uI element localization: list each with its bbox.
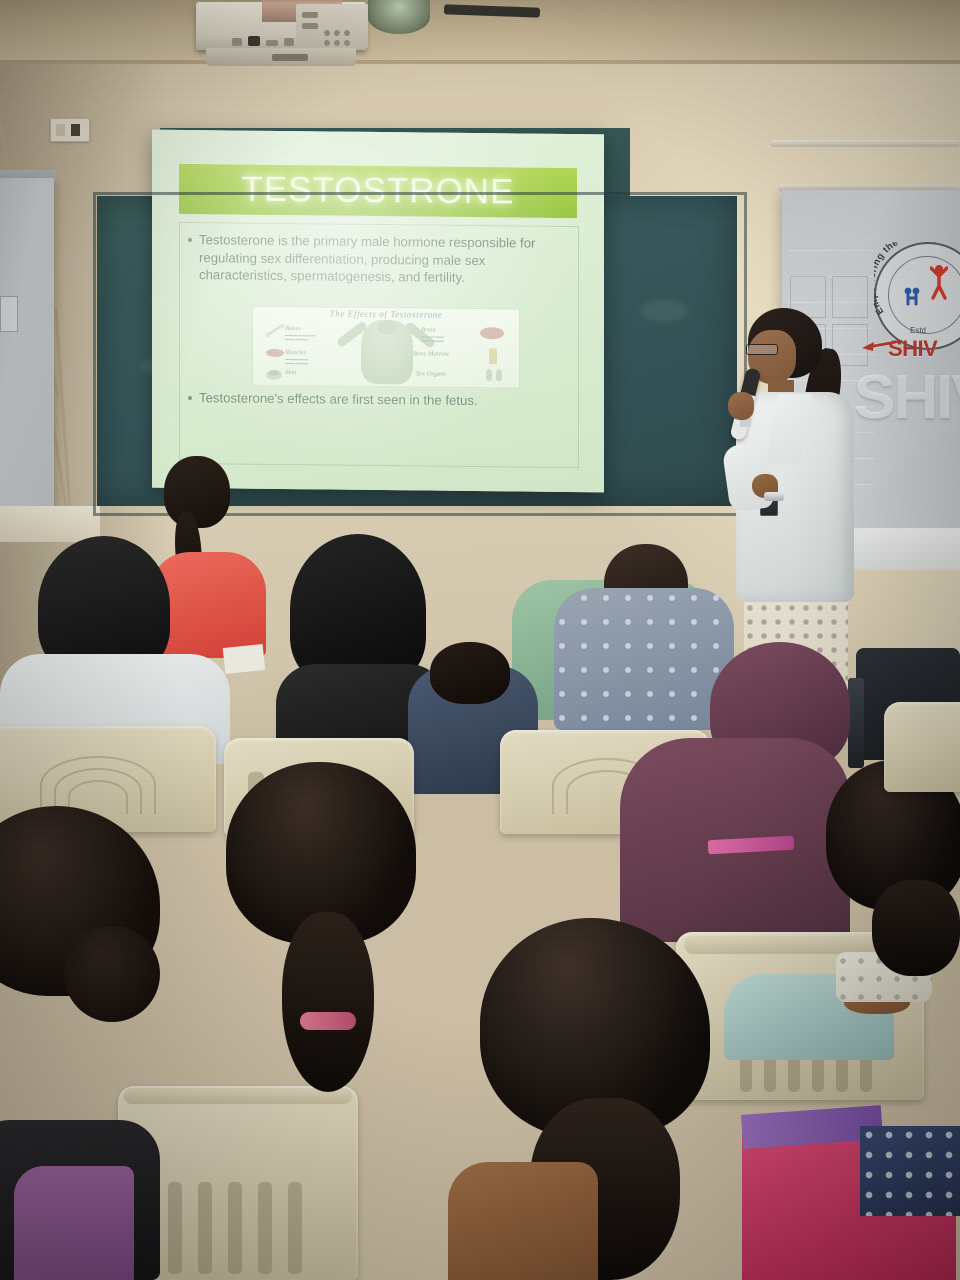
list-item (18, 536, 218, 756)
attendee-paper (223, 644, 265, 674)
attendee-shoulder-skin (448, 1162, 598, 1280)
ceiling-light-recess (368, 0, 430, 34)
attendee-head (430, 642, 510, 704)
chair-slot (288, 1182, 302, 1274)
projector-lens (272, 54, 308, 61)
upper-wall-rail (770, 140, 960, 147)
projector-button (344, 40, 350, 46)
projector-button (344, 30, 350, 36)
chair-slot (258, 1182, 272, 1274)
eyeglasses-icon (746, 344, 778, 355)
chair-slot (228, 1182, 242, 1274)
chair-slot (198, 1182, 212, 1274)
attendee-purple-shawl (14, 1166, 134, 1280)
photo-scene: Empowering the Women Estd SHIV SHIV TEST… (0, 0, 960, 1280)
chair-slot (168, 1182, 182, 1274)
projector-button (334, 30, 340, 36)
list-item (0, 1120, 170, 1280)
attendee-bun (64, 926, 160, 1022)
wristwatch-icon (764, 492, 784, 501)
projector-button (232, 38, 242, 46)
projector-button (302, 12, 318, 18)
left-wall-banner (0, 178, 54, 516)
projector-button (334, 40, 340, 46)
projector-button (324, 30, 330, 36)
projector-button (302, 23, 318, 29)
attendee-braid (282, 912, 374, 1092)
attendee-hair-tie (300, 1012, 356, 1030)
logo-figure-blue-icon (904, 286, 920, 314)
projector-button (324, 40, 330, 46)
ceiling-seam (0, 60, 960, 64)
projector-button (284, 38, 294, 46)
wall-switch-box[interactable] (50, 118, 90, 142)
list-item (196, 762, 446, 1092)
list-item (742, 1108, 960, 1280)
attendee-head (164, 456, 230, 528)
list-item (0, 806, 190, 1106)
chair[interactable] (884, 702, 960, 792)
left-banner-panel (0, 296, 18, 332)
projector-button (266, 40, 278, 46)
list-item (448, 1162, 608, 1280)
logo-estd-label: Estd (910, 326, 926, 335)
projector-button (248, 36, 260, 46)
attendee-braid (872, 880, 960, 976)
presenter-hand-holding-mic (728, 392, 754, 420)
logo-figure-red-icon (930, 264, 948, 300)
attendee-patterned-cloth (860, 1126, 960, 1216)
